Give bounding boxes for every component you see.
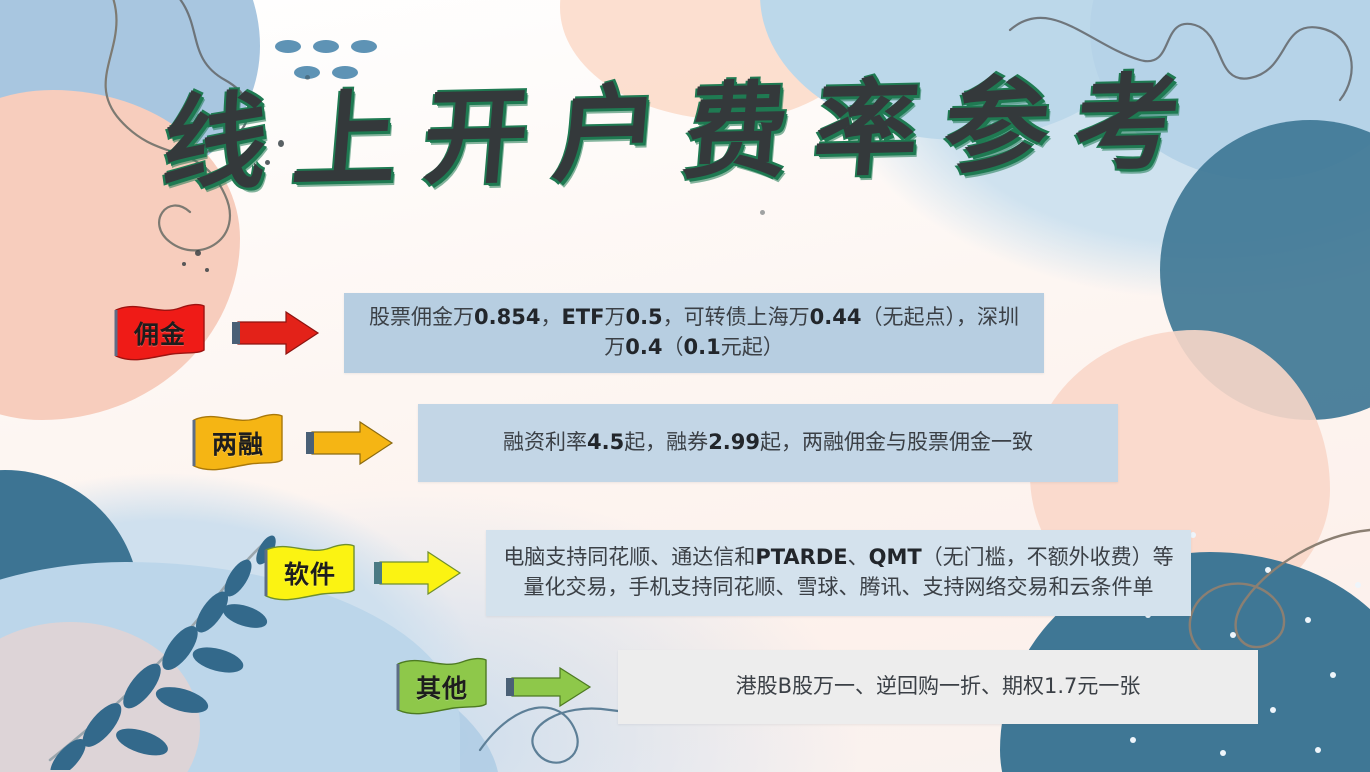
flag-banner-software[interactable]: 软件 bbox=[262, 542, 358, 604]
info-box-commission: 股票佣金万0.854，ETF万0.5，可转债上海万0.44（无起点），深圳万0.… bbox=[344, 293, 1044, 373]
rate-rows: 佣金 股票佣金万0.854，ETF万0.5，可转债上海万0.44（无起点），深圳… bbox=[0, 0, 1370, 772]
info-box-margin: 融资利率4.5起，融券2.99起，两融佣金与股票佣金一致 bbox=[418, 404, 1118, 482]
poster-canvas: 线上开户费率参考 佣金 股票佣金万0.854，ETF万0.5，可转债上海万0.4… bbox=[0, 0, 1370, 772]
info-text-other: 港股B股万一、逆回购一折、期权1.7元一张 bbox=[736, 672, 1141, 702]
rate-row-software: 软件 电脑支持同花顺、通达信和PTARDE、QMT（无门槛，不额外收费）等量化交… bbox=[262, 530, 1191, 616]
info-text-software: 电脑支持同花顺、通达信和PTARDE、QMT（无门槛，不额外收费）等量化交易，手… bbox=[502, 543, 1175, 603]
arrow-commission bbox=[230, 310, 322, 356]
flag-banner-commission[interactable]: 佣金 bbox=[112, 302, 208, 364]
flag-banner-margin[interactable]: 两融 bbox=[190, 412, 286, 474]
arrow-other bbox=[504, 664, 596, 710]
flag-label-software: 软件 bbox=[262, 555, 358, 591]
flag-label-commission: 佣金 bbox=[112, 315, 208, 351]
rate-row-other: 其他 港股B股万一、逆回购一折、期权1.7元一张 bbox=[394, 650, 1258, 724]
info-text-margin: 融资利率4.5起，融券2.99起，两融佣金与股票佣金一致 bbox=[503, 428, 1033, 458]
info-box-other: 港股B股万一、逆回购一折、期权1.7元一张 bbox=[618, 650, 1258, 724]
arrow-software bbox=[372, 550, 464, 596]
flag-label-margin: 两融 bbox=[190, 425, 286, 461]
rate-row-margin: 两融 融资利率4.5起，融券2.99起，两融佣金与股票佣金一致 bbox=[190, 404, 1118, 482]
arrow-margin bbox=[304, 420, 396, 466]
info-box-software: 电脑支持同花顺、通达信和PTARDE、QMT（无门槛，不额外收费）等量化交易，手… bbox=[486, 530, 1191, 616]
rate-row-commission: 佣金 股票佣金万0.854，ETF万0.5，可转债上海万0.44（无起点），深圳… bbox=[112, 293, 1044, 373]
flag-label-other: 其他 bbox=[394, 669, 490, 705]
info-text-commission: 股票佣金万0.854，ETF万0.5，可转债上海万0.44（无起点），深圳万0.… bbox=[360, 303, 1028, 363]
flag-banner-other[interactable]: 其他 bbox=[394, 656, 490, 718]
